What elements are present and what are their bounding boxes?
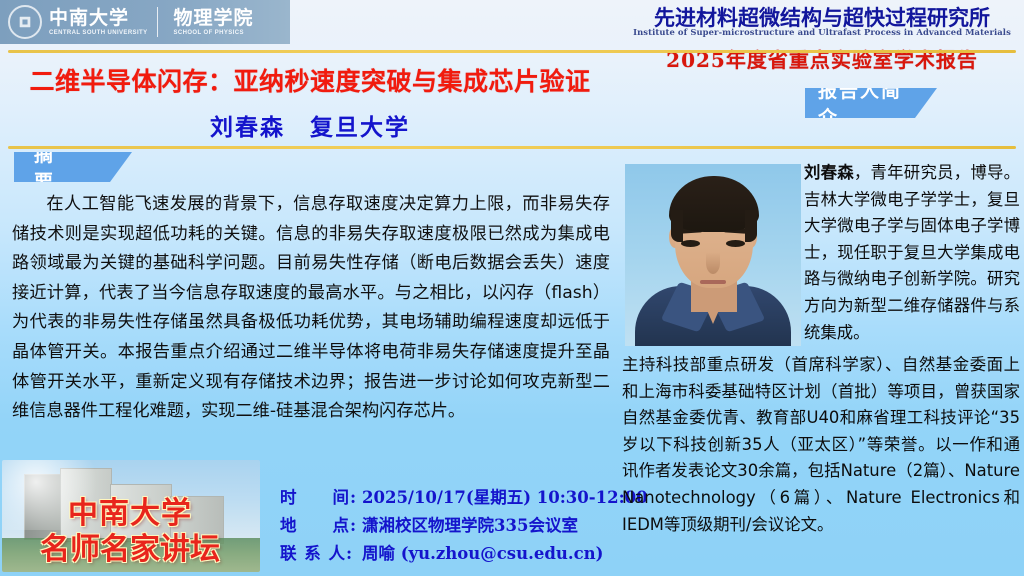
speaker-bio-name: 刘春森 — [804, 163, 854, 182]
school-name-block: 物理学院 SCHOOL OF PHYSICS — [174, 9, 254, 36]
poster-speaker-affiliation: 刘春森 复旦大学 — [0, 108, 620, 142]
speaker-bio-intro: 刘春森，青年研究员，博导。吉林大学微电子学学士，复旦大学微电子学与固体电子学博士… — [804, 160, 1020, 346]
school-name-en: SCHOOL OF PHYSICS — [174, 30, 254, 36]
event-time-value: 2025/10/17(星期五) 10:30-12:00 — [362, 484, 648, 508]
institute-name-en: Institute of Super-microstructure and Ul… — [620, 27, 1024, 37]
speaker-bio-detail: 主持科技部重点研发（首席科学家）、自然基金委面上和上海市科委基础特区计划（首批）… — [622, 352, 1020, 538]
plaque-line-1: 中南大学 — [0, 496, 260, 532]
event-details: 时 间: 2025/10/17(星期五) 10:30-12:00 地 点: 潇湘… — [280, 484, 620, 568]
event-location-label: 地 点: — [280, 512, 362, 536]
event-location-value: 潇湘校区物理学院335会议室 — [362, 512, 578, 536]
plaque-line-2: 名师名家讲坛 — [0, 532, 260, 568]
gold-rule-middle — [8, 146, 1016, 149]
report-series-title: 2025年度省重点实验室学术报告 — [620, 44, 1024, 73]
event-row-location: 地 点: 潇湘校区物理学院335会议室 — [280, 512, 620, 536]
portrait-eye-right — [726, 240, 745, 247]
abstract-body-text: 在人工智能飞速发展的背景下，信息存取速度决定算力上限，而非易失存储技术则是实现超… — [12, 190, 610, 427]
speaker-bio-intro-rest: ，青年研究员，博导。吉林大学微电子学学士，复旦大学微电子学与固体电子学博士，现任… — [804, 163, 1020, 342]
event-row-time: 时 间: 2025/10/17(星期五) 10:30-12:00 — [280, 484, 620, 508]
university-seal-icon — [8, 5, 42, 39]
event-time-label: 时 间: — [280, 484, 362, 508]
university-logo-bar: 中南大学 CENTRAL SOUTH UNIVERSITY 物理学院 SCHOO… — [0, 0, 290, 44]
left-column: 中南大学 CENTRAL SOUTH UNIVERSITY 物理学院 SCHOO… — [0, 0, 620, 576]
lecture-series-plaque: 中南大学 名师名家讲坛 — [0, 496, 260, 568]
event-row-contact: 联 系 人: 周喻 (yu.zhou@csu.edu.cn) — [280, 540, 620, 564]
portrait-hair — [669, 176, 759, 232]
portrait-eye-left — [681, 240, 700, 247]
university-name-block: 中南大学 CENTRAL SOUTH UNIVERSITY — [49, 9, 148, 36]
speaker-bio-banner-label: 报告人简介 — [805, 88, 937, 118]
speaker-portrait-photo — [625, 164, 801, 346]
event-contact-value: 周喻 (yu.zhou@csu.edu.cn) — [362, 540, 603, 564]
portrait-mouth — [700, 280, 726, 284]
poster-main-title: 二维半导体闪存：亚纳秒速度突破与集成芯片验证 — [0, 62, 620, 98]
event-contact-label: 联 系 人: — [280, 540, 362, 564]
seminar-poster: 中南大学 CENTRAL SOUTH UNIVERSITY 物理学院 SCHOO… — [0, 0, 1024, 576]
university-name-en: CENTRAL SOUTH UNIVERSITY — [49, 30, 148, 36]
university-name-cn: 中南大学 — [49, 9, 148, 28]
abstract-banner-label: 摘 要 — [14, 152, 132, 182]
school-name-cn: 物理学院 — [174, 9, 254, 28]
logo-divider — [157, 7, 158, 37]
portrait-nose — [706, 252, 720, 274]
gold-rule-top — [8, 50, 1016, 53]
